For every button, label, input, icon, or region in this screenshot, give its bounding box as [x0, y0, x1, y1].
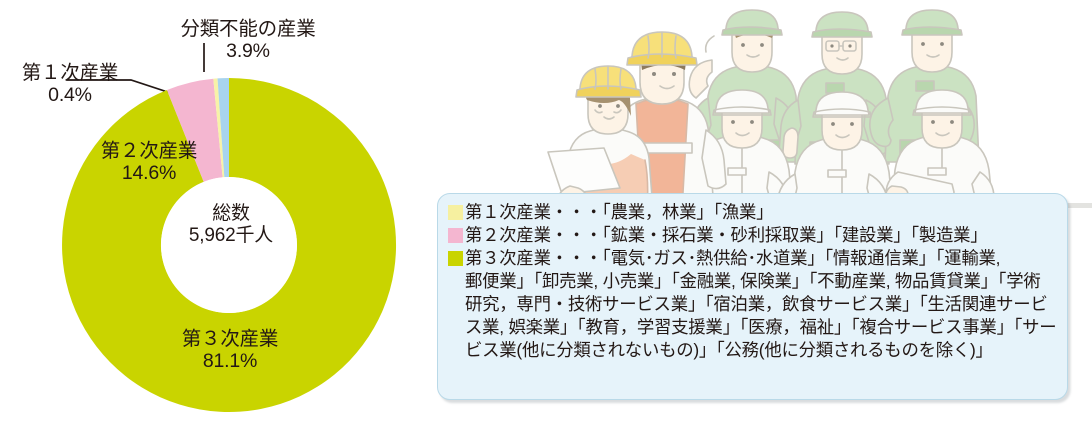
- slice-label-secondary-name: 第２次産業: [84, 140, 214, 162]
- legend-swatch-primary: [448, 205, 463, 220]
- legend-box: 第１次産業・・・「農業，林業」「漁業」 第２次産業・・・「鉱業・採石業・砂利採取…: [437, 193, 1068, 400]
- donut-center-label: 総数 5,962千人: [152, 203, 310, 246]
- legend-text-primary: 第１次産業・・・「農業，林業」「漁業」: [465, 202, 773, 222]
- legend-text-tertiary-body: 郵便業」「卸売業, 小売業」「金融業, 保険業」「不動産業, 物品賃貸業」「学術…: [448, 270, 1057, 362]
- donut-center-label-line2: 5,962千人: [152, 225, 310, 247]
- infographic-root: 分類不能の産業 3.9% 第１次産業 0.4% 第２次産業 14.6% 第３次産…: [0, 0, 1092, 448]
- legend-row-secondary: 第２次産業・・・「鉱業・採石業・砂利採取業」「建設業」「製造業」: [448, 224, 1057, 247]
- legend-tertiary-first-line: 第３次産業・・・「電気･ガス･熱供給･水道業」「情報通信業」「運輸業,: [448, 247, 1057, 270]
- slice-label-unclassified: 分類不能の産業 3.9%: [163, 18, 333, 62]
- slice-label-primary-percent: 0.4%: [6, 84, 134, 106]
- slice-label-secondary: 第２次産業 14.6%: [84, 140, 214, 184]
- legend-row-tertiary: 第３次産業・・・「電気･ガス･熱供給･水道業」「情報通信業」「運輸業, 郵便業」…: [448, 247, 1057, 362]
- workers-illustration-svg: .ln { fill:none; stroke:#c9c6bd; stroke-…: [540, 0, 1092, 208]
- donut-center-label-line1: 総数: [152, 203, 310, 225]
- legend-row-primary: 第１次産業・・・「農業，林業」「漁業」: [448, 201, 1057, 224]
- legend-text-secondary: 第２次産業・・・「鉱業・採石業・砂利採取業」「建設業」「製造業」: [465, 225, 987, 245]
- slice-label-unclassified-name: 分類不能の産業: [163, 18, 333, 40]
- slice-label-primary: 第１次産業 0.4%: [6, 62, 134, 106]
- slice-label-primary-name: 第１次産業: [6, 62, 134, 84]
- slice-label-tertiary-name: 第３次産業: [150, 328, 310, 350]
- slice-label-unclassified-percent: 3.9%: [163, 40, 333, 62]
- legend-swatch-secondary: [448, 228, 463, 243]
- slice-label-tertiary-percent: 81.1%: [150, 350, 310, 372]
- donut-chart: 分類不能の産業 3.9% 第１次産業 0.4% 第２次産業 14.6% 第３次産…: [0, 0, 440, 448]
- legend-text-tertiary-first: 第３次産業・・・「電気･ガス･熱供給･水道業」「情報通信業」「運輸業,: [465, 248, 1000, 268]
- legend-swatch-tertiary: [448, 251, 463, 266]
- slice-label-tertiary: 第３次産業 81.1%: [150, 328, 310, 372]
- workers-group-illustration: .ln { fill:none; stroke:#c9c6bd; stroke-…: [540, 0, 1092, 208]
- slice-label-secondary-percent: 14.6%: [84, 162, 214, 184]
